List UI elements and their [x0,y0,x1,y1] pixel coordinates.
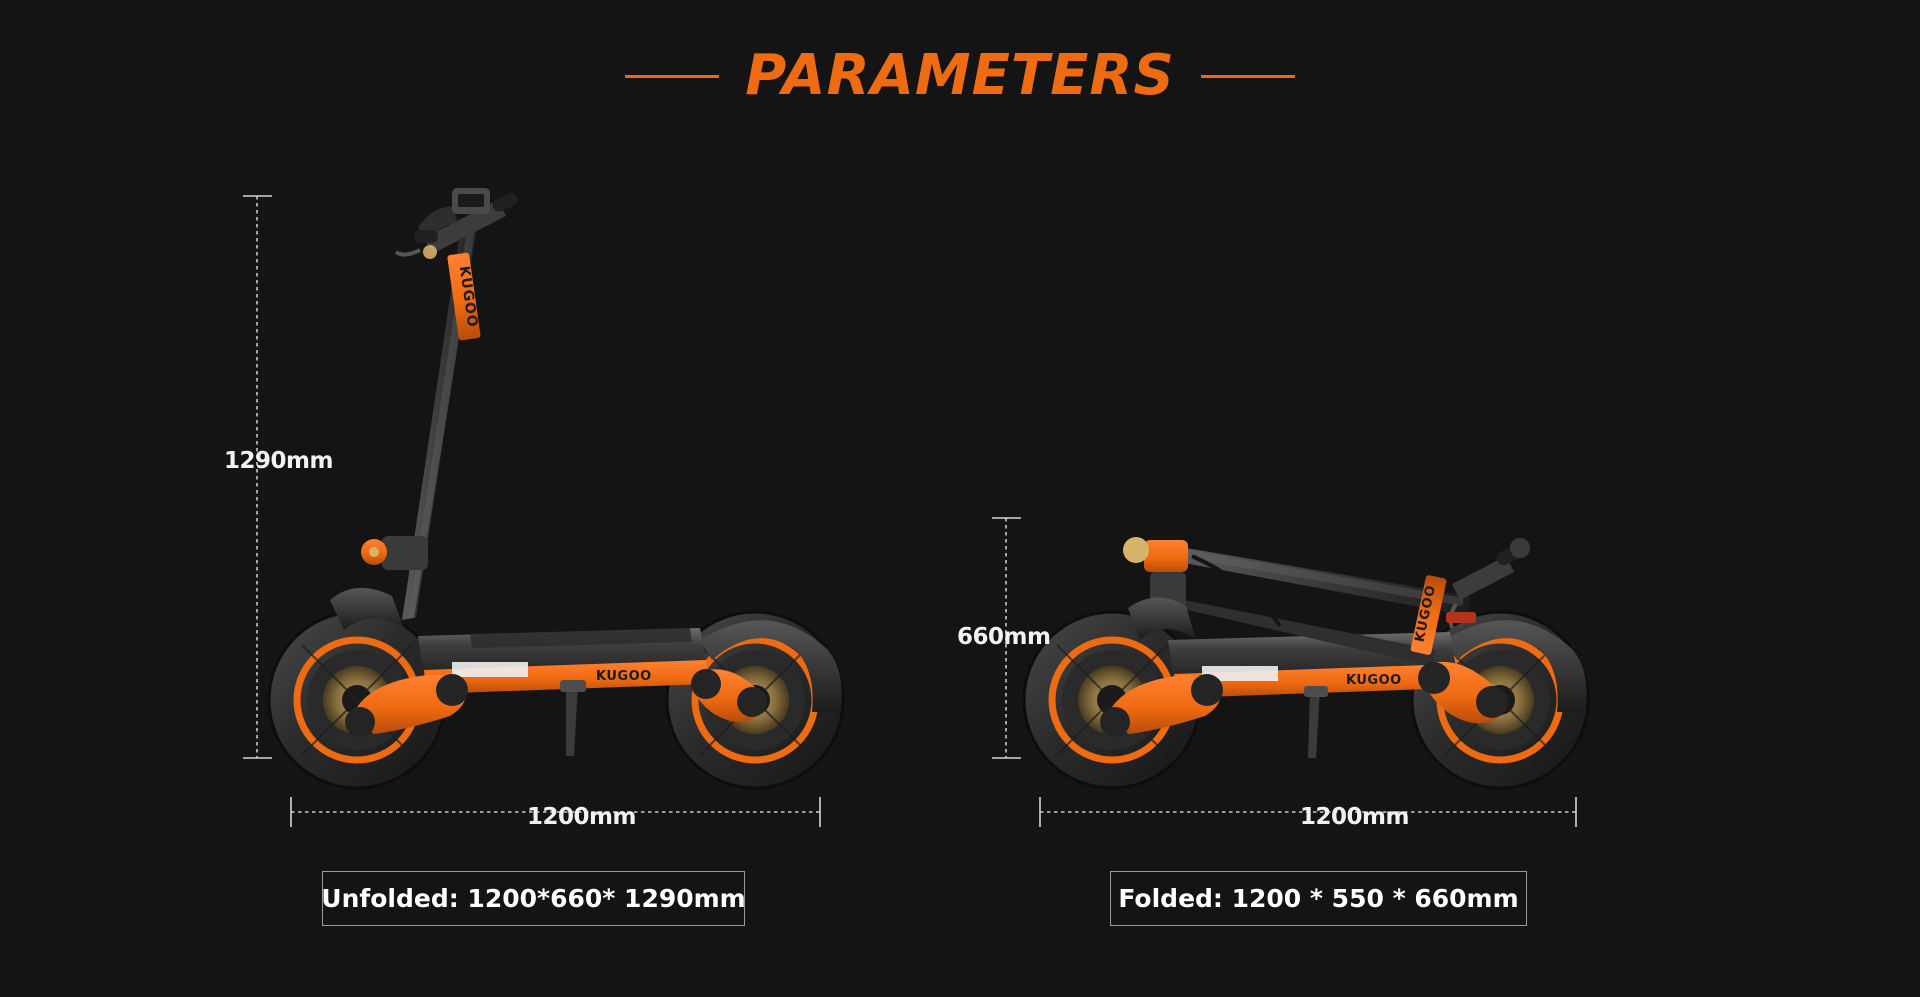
taillight-right-diagram [1446,612,1476,623]
dimension-label-height-unfolded: 1290mm [224,448,333,474]
caption-box-folded: Folded: 1200 * 550 * 660mm [1110,871,1527,926]
dimension-label-height-folded: 660mm [957,624,1050,650]
deck-brand-right: KUGOO [1346,673,1402,688]
caption-box-unfolded: Unfolded: 1200*660* 1290mm [322,871,745,926]
scooter-folded-illustration: KUGOO [0,0,1920,997]
dimension-label-width-folded: 1200mm [1300,804,1409,830]
dimension-label-width-unfolded: 1200mm [527,804,636,830]
caption-text-folded: Folded: 1200 * 550 * 660mm [1118,884,1518,913]
caption-text-unfolded: Unfolded: 1200*660* 1290mm [321,884,745,913]
parameters-page: PARAMETERS [0,0,1920,997]
kickstand-right-diagram [1308,690,1320,758]
